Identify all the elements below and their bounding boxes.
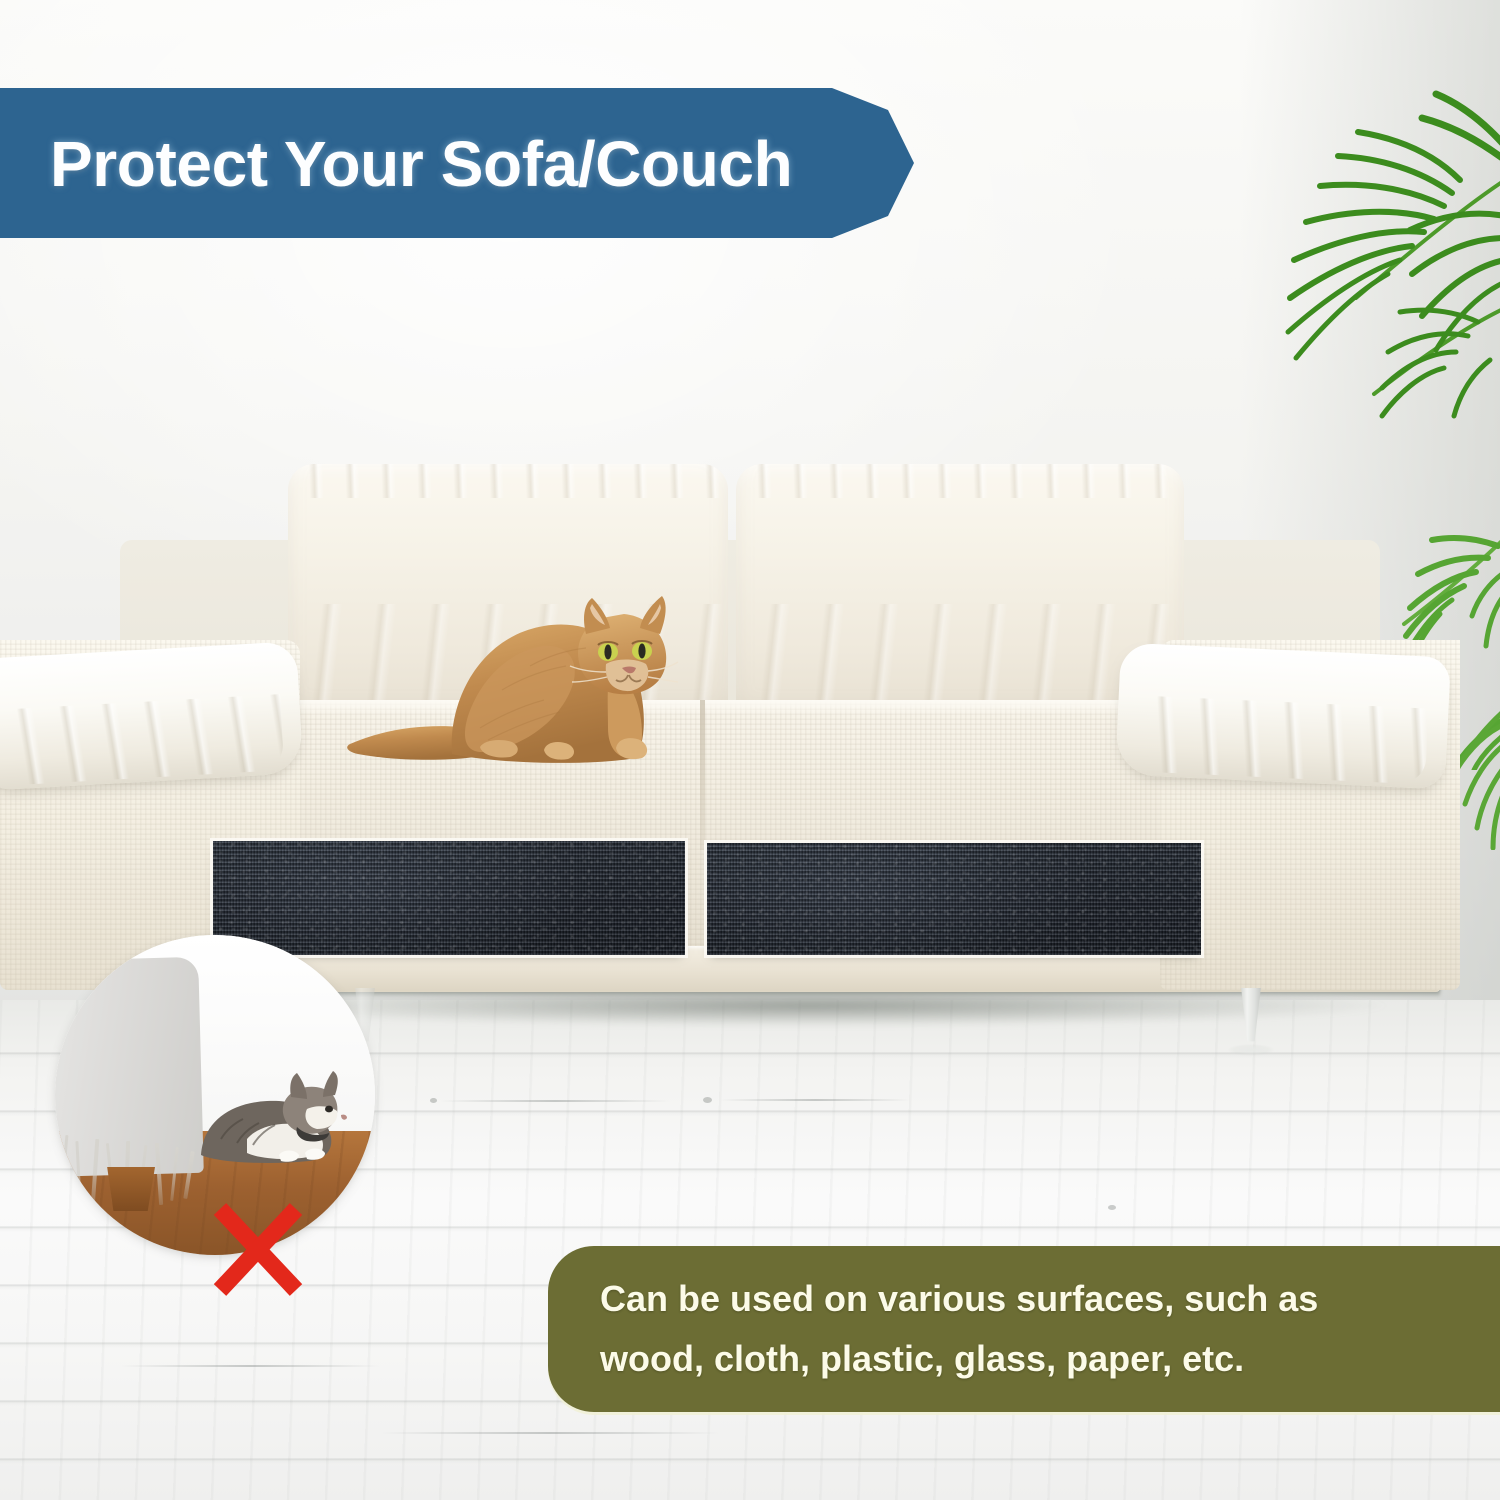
floor-knot bbox=[430, 1098, 437, 1103]
floor-streak bbox=[720, 1099, 910, 1101]
floor-streak bbox=[440, 1100, 670, 1102]
pillow-creases bbox=[0, 694, 284, 786]
sofa-leg-foot bbox=[1227, 1044, 1275, 1056]
page-title: Protect Your Sofa/Couch bbox=[50, 112, 870, 216]
mat-fiber-texture bbox=[707, 843, 1201, 955]
cushion-top-wrinkle bbox=[736, 464, 1184, 498]
floor-streak bbox=[380, 1432, 720, 1434]
tabby-cat-icon bbox=[195, 1043, 365, 1173]
cushion-top-wrinkle bbox=[288, 464, 728, 498]
callout-line-2: wood, cloth, plastic, glass, paper, etc. bbox=[600, 1340, 1490, 1378]
pillow-creases bbox=[1135, 695, 1429, 784]
sofa-back-cushion-right bbox=[736, 464, 1184, 724]
red-x-icon bbox=[212, 1202, 304, 1297]
sofa-arm-pillow-right bbox=[1115, 643, 1451, 790]
palm-frond-icon bbox=[1160, 60, 1500, 420]
scratch-mat-icon[interactable] bbox=[707, 843, 1201, 955]
floor-knot bbox=[1108, 1205, 1116, 1210]
floor-knot bbox=[703, 1097, 712, 1103]
ginger-cat-icon bbox=[330, 548, 730, 798]
callout-line-1: Can be used on various surfaces, such as bbox=[600, 1280, 1490, 1318]
product-image-canvas: Protect Your Sofa/Couch Can be used on v… bbox=[0, 0, 1500, 1500]
floor-streak bbox=[120, 1365, 380, 1367]
surfaces-callout-text: Can be used on various surfaces, such as… bbox=[600, 1250, 1490, 1408]
sofa-arm-pillow-left bbox=[0, 641, 303, 791]
